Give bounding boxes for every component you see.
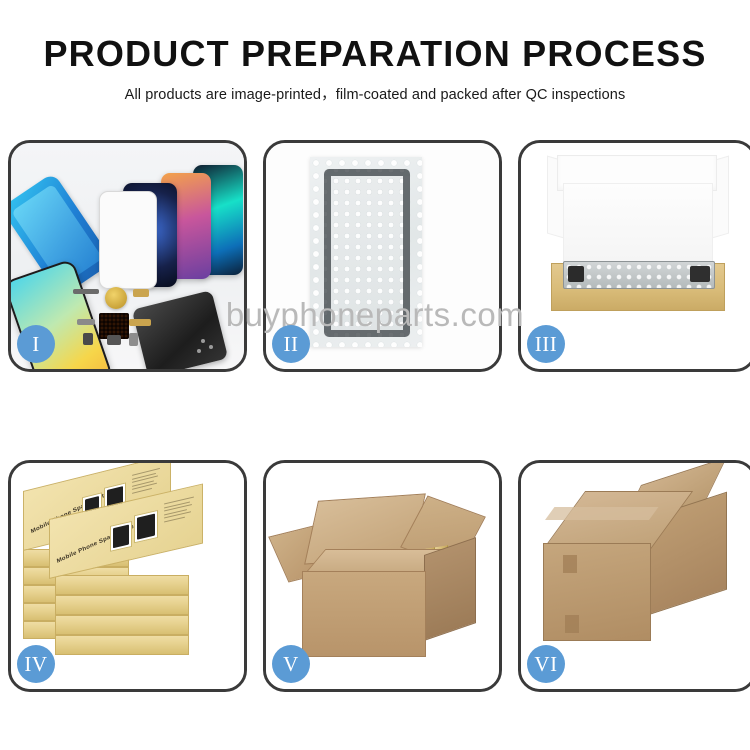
step-badge-1: I (17, 325, 55, 363)
step-panel-2[interactable]: II (263, 140, 502, 372)
connector-part (77, 319, 95, 325)
battery-connector-part (107, 335, 121, 345)
process-step-grid: I II III (0, 0, 750, 750)
screw-part-b (209, 345, 213, 349)
stacked-box-r4 (55, 635, 189, 655)
box-window-front-a (110, 521, 132, 552)
step-badge-3: III (527, 325, 565, 363)
step-badge-4: IV (17, 645, 55, 683)
step-badge-6: VI (527, 645, 565, 683)
carton-side-face (424, 537, 476, 641)
flex-cable-part-b (129, 319, 151, 326)
screw-part-c (197, 349, 201, 353)
camera-module-part (83, 333, 93, 345)
sealed-carton-front-face (543, 543, 651, 641)
box-window-front-b (134, 510, 158, 544)
sim-tray-part (129, 333, 138, 346)
step-panel-5[interactable]: V (263, 460, 502, 692)
step-panel-4[interactable]: Mobile Phone Spare Parts Mobile Phone Sp… (8, 460, 247, 692)
box-inner-wall (563, 183, 713, 271)
tempered-glass-sheet (99, 191, 157, 289)
wrapped-product-in-box (563, 261, 715, 289)
step-badge-5: V (272, 645, 310, 683)
step-panel-1[interactable]: I (8, 140, 247, 372)
carton-handle-slot-bottom (565, 615, 579, 633)
screw-part-a (201, 339, 205, 343)
carton-handle-slot-top (563, 555, 577, 573)
vibrator-motor-part (105, 287, 127, 309)
flex-cable-part-a (133, 289, 149, 297)
box-checklist-back (132, 467, 162, 496)
carton-front-face (302, 571, 426, 657)
stacked-box-r1 (55, 575, 189, 595)
box-checklist-front (164, 496, 196, 525)
earpiece-speaker-part (73, 289, 99, 294)
step-panel-3[interactable]: III (518, 140, 750, 372)
packing-tape-strip (545, 507, 658, 520)
wrapped-screen-frame (324, 169, 410, 337)
stacked-box-r2 (55, 595, 189, 615)
stacked-box-r3 (55, 615, 189, 635)
step-badge-2: II (272, 325, 310, 363)
step-panel-6[interactable]: VI (518, 460, 750, 692)
